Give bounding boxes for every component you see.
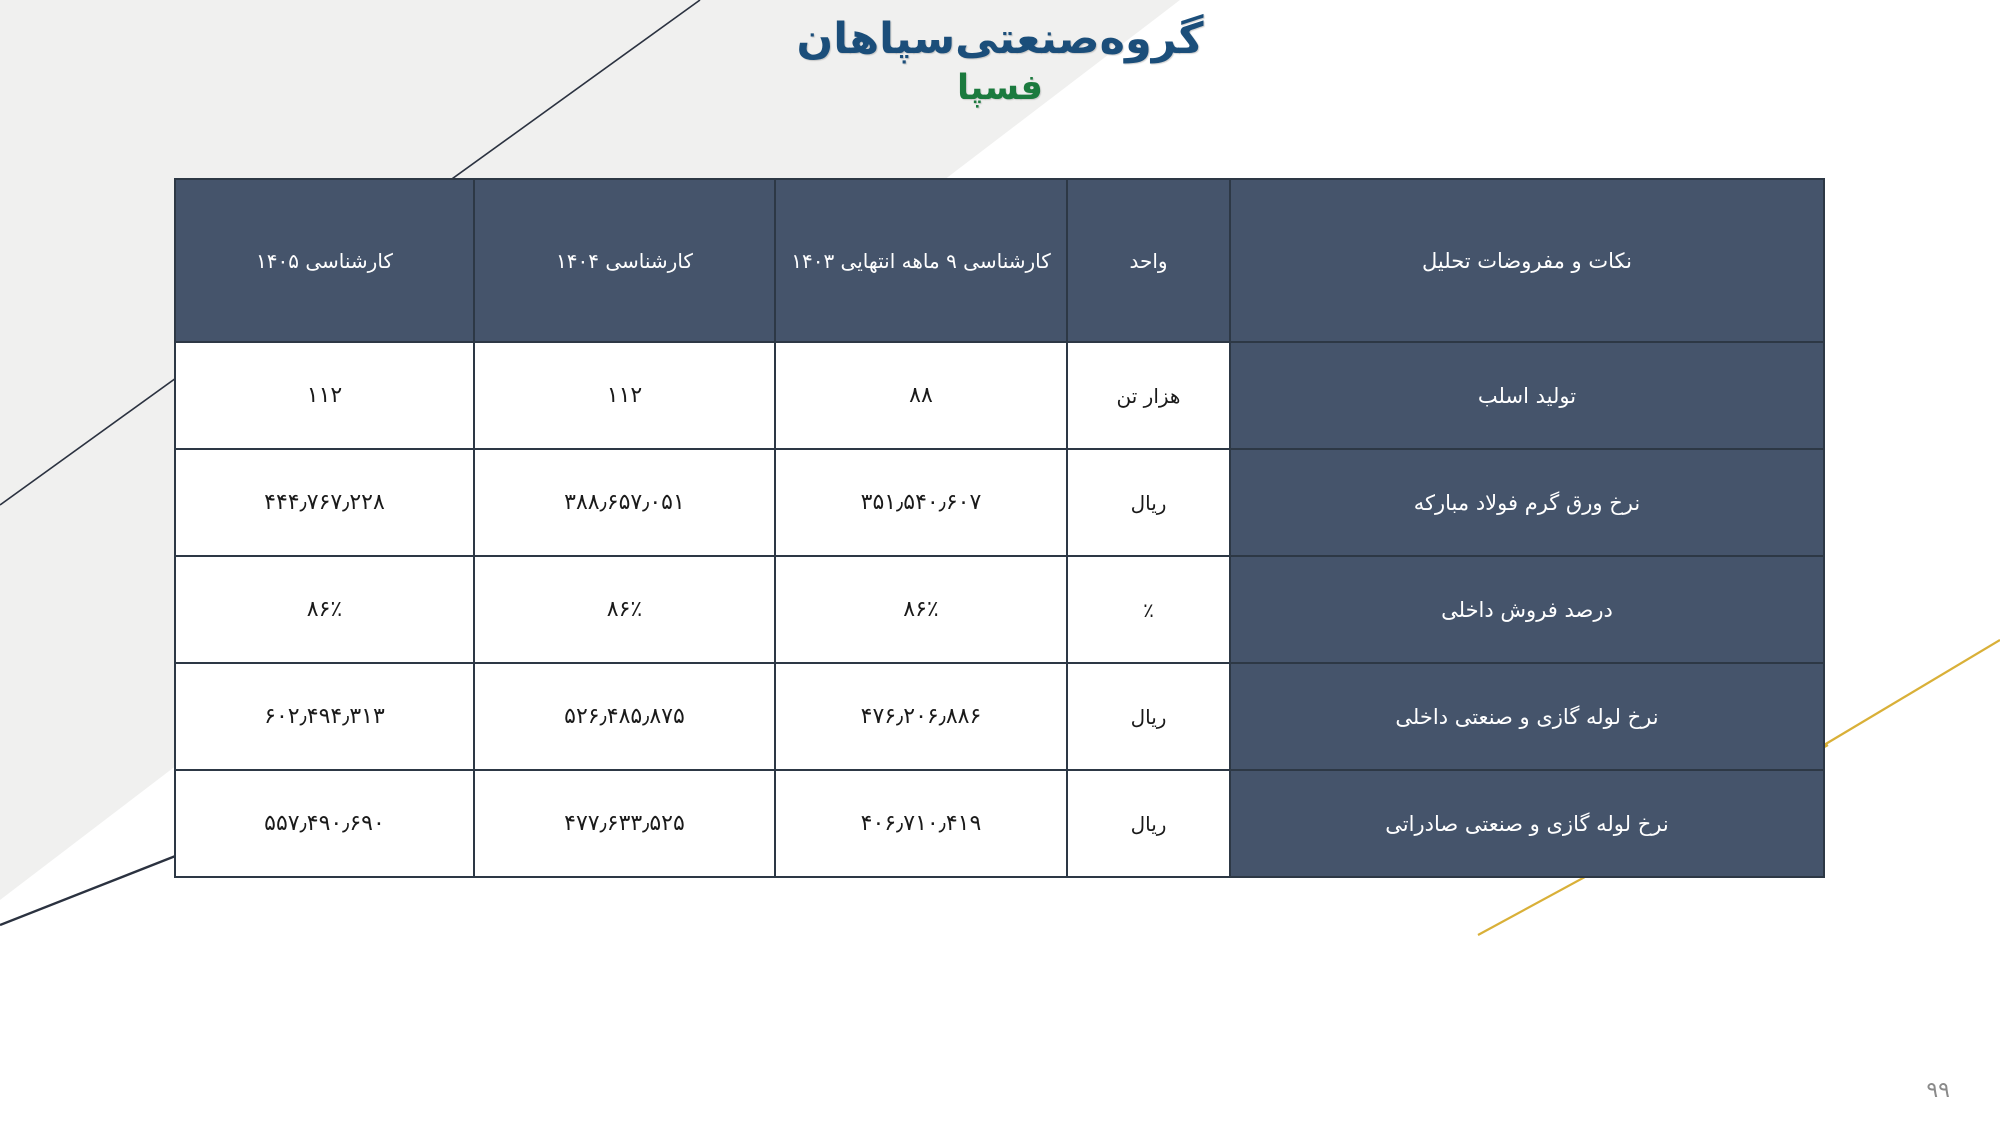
page-number: ۹۹ [1926, 1078, 1950, 1103]
table-body: تولید اسلب هزار تن ۸۸ ۱۱۲ ۱۱۲ نرخ ورق گر… [175, 342, 1824, 877]
cell-notes: درصد فروش داخلی [1230, 556, 1824, 663]
table-row: درصد فروش داخلی ٪ ۸۶٪ ۸۶٪ ۸۶٪ [175, 556, 1824, 663]
cell-notes: نرخ لوله گازی و صنعتی داخلی [1230, 663, 1824, 770]
table-row: نرخ ورق گرم فولاد مبارکه ریال ۳۵۱٫۵۴۰٫۶۰… [175, 449, 1824, 556]
cell-1404: ۵۲۶٫۴۸۵٫۸۷۵ [474, 663, 775, 770]
table-row: نرخ لوله گازی و صنعتی صادراتی ریال ۴۰۶٫۷… [175, 770, 1824, 877]
cell-1405: ۴۴۴٫۷۶۷٫۲۲۸ [175, 449, 474, 556]
cell-1403: ۸۸ [775, 342, 1067, 449]
cell-1403: ۴۰۶٫۷۱۰٫۴۱۹ [775, 770, 1067, 877]
table-header-row: نکات و مفروضات تحلیل واحد کارشناسی ۹ ماه… [175, 179, 1824, 342]
ticker-symbol: فسپا [0, 67, 2000, 109]
cell-notes: تولید اسلب [1230, 342, 1824, 449]
cell-1405: ۸۶٪ [175, 556, 474, 663]
cell-1404: ۴۷۷٫۶۳۳٫۵۲۵ [474, 770, 775, 877]
cell-unit: ٪ [1067, 556, 1230, 663]
column-header-1404: کارشناسی ۱۴۰۴ [474, 179, 775, 342]
cell-1403: ۳۵۱٫۵۴۰٫۶۰۷ [775, 449, 1067, 556]
cell-1403: ۸۶٪ [775, 556, 1067, 663]
cell-1404: ۳۸۸٫۶۵۷٫۰۵۱ [474, 449, 775, 556]
column-header-notes: نکات و مفروضات تحلیل [1230, 179, 1824, 342]
assumptions-table: نکات و مفروضات تحلیل واحد کارشناسی ۹ ماه… [174, 178, 1825, 878]
cell-notes: نرخ لوله گازی و صنعتی صادراتی [1230, 770, 1824, 877]
cell-1403: ۴۷۶٫۲۰۶٫۸۸۶ [775, 663, 1067, 770]
table-header: نکات و مفروضات تحلیل واحد کارشناسی ۹ ماه… [175, 179, 1824, 342]
column-header-1405: کارشناسی ۱۴۰۵ [175, 179, 474, 342]
cell-1405: ۶۰۲٫۴۹۴٫۳۱۳ [175, 663, 474, 770]
table-row: نرخ لوله گازی و صنعتی داخلی ریال ۴۷۶٫۲۰۶… [175, 663, 1824, 770]
presentation-slide: گروه‌صنعتی‌سپاهان فسپا نکات و مفروضات تح… [0, 0, 2000, 1125]
cell-1404: ۱۱۲ [474, 342, 775, 449]
page-title: گروه‌صنعتی‌سپاهان [0, 14, 2000, 65]
cell-1405: ۱۱۲ [175, 342, 474, 449]
column-header-unit: واحد [1067, 179, 1230, 342]
cell-unit: هزار تن [1067, 342, 1230, 449]
cell-notes: نرخ ورق گرم فولاد مبارکه [1230, 449, 1824, 556]
assumptions-table-container: نکات و مفروضات تحلیل واحد کارشناسی ۹ ماه… [176, 178, 1825, 878]
cell-unit: ریال [1067, 449, 1230, 556]
column-header-1403: کارشناسی ۹ ماهه انتهایی ۱۴۰۳ [775, 179, 1067, 342]
slide-title-block: گروه‌صنعتی‌سپاهان فسپا [0, 14, 2000, 109]
cell-unit: ریال [1067, 770, 1230, 877]
cell-unit: ریال [1067, 663, 1230, 770]
cell-1405: ۵۵۷٫۴۹۰٫۶۹۰ [175, 770, 474, 877]
table-row: تولید اسلب هزار تن ۸۸ ۱۱۲ ۱۱۲ [175, 342, 1824, 449]
cell-1404: ۸۶٪ [474, 556, 775, 663]
